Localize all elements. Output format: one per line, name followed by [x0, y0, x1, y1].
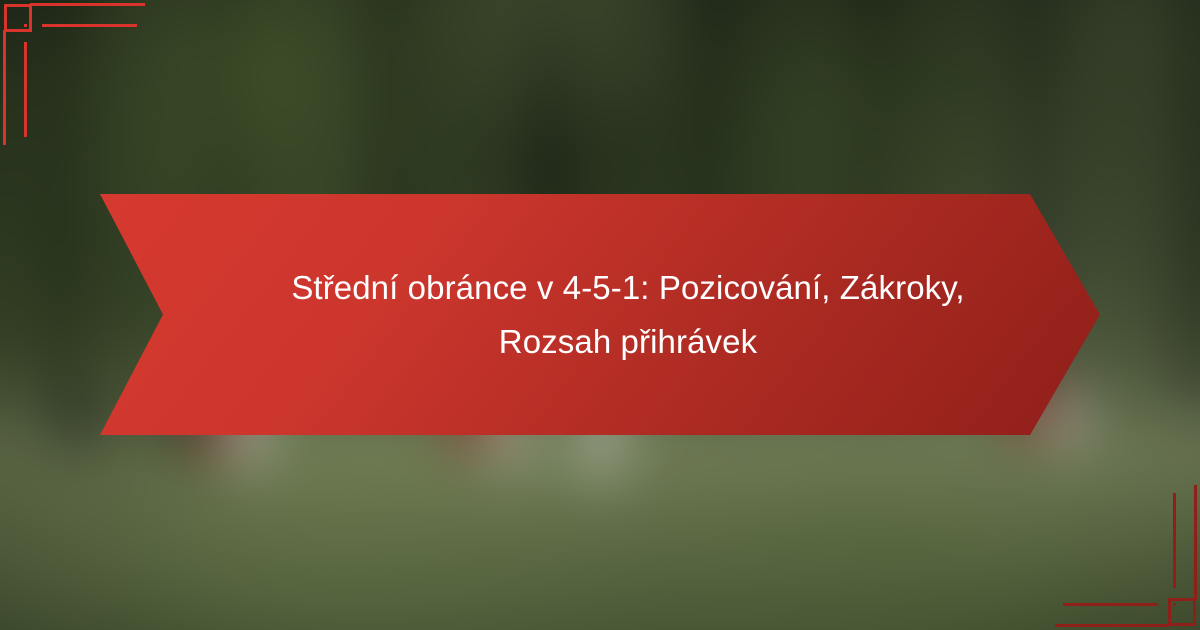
corner-rule-horizontal-inner — [42, 24, 137, 27]
corner-elbow-joint — [24, 24, 27, 27]
poster: Střední obránce v 4-5-1: Pozicování, Zák… — [0, 0, 1200, 630]
corner-rule-vertical-outer — [3, 30, 6, 145]
corner-ornament-bottom-right — [1050, 480, 1200, 630]
corner-rule-vertical-inner — [1173, 493, 1176, 588]
corner-square-icon — [4, 4, 32, 32]
corner-elbow-joint — [1173, 603, 1176, 606]
corner-rule-vertical-outer — [1194, 485, 1197, 600]
corner-rule-horizontal-outer — [1055, 624, 1170, 627]
corner-rule-horizontal-outer — [30, 3, 145, 6]
corner-rule-vertical-inner — [24, 42, 27, 137]
corner-ornament-top-left — [0, 0, 150, 150]
title-banner: Střední obránce v 4-5-1: Pozicování, Zák… — [100, 194, 1100, 435]
corner-rule-horizontal-inner — [1063, 603, 1158, 606]
page-title: Střední obránce v 4-5-1: Pozicování, Zák… — [192, 261, 1008, 368]
